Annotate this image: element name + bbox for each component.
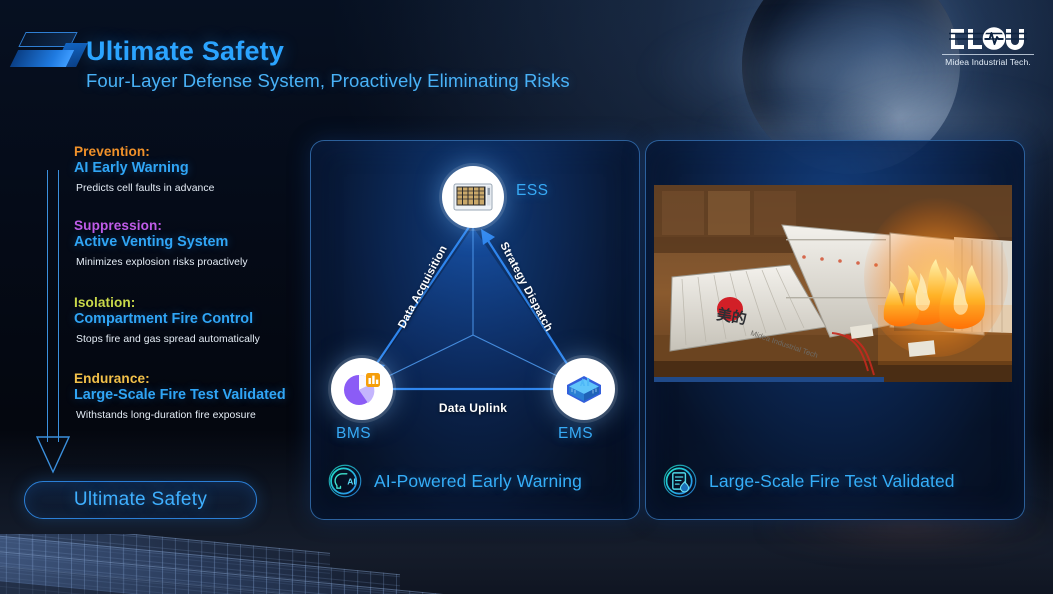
summary-pill-label: Ultimate Safety xyxy=(74,489,207,511)
layer-lead: Large-Scale Fire Test Validated xyxy=(74,387,286,403)
panel-right-caption-row: Large-Scale Fire Test Validated xyxy=(662,463,955,499)
list-item-isolation: Isolation: Compartment Fire Control Stop… xyxy=(74,295,260,345)
layer-kicker: Prevention: xyxy=(74,144,214,159)
layer-kicker: Isolation: xyxy=(74,295,260,310)
layer-desc: Minimizes explosion risks proactively xyxy=(76,257,248,268)
layer-lead: AI Early Warning xyxy=(74,160,214,176)
layer-desc: Withstands long-duration fire exposure xyxy=(76,410,286,421)
photo-caption-banner: Zero thermal runaway propagation between… xyxy=(654,377,884,382)
layer-kicker: Suppression: xyxy=(74,218,248,233)
list-item-endurance: Endurance: Large-Scale Fire Test Validat… xyxy=(74,371,286,421)
panel-mid-caption: AI-Powered Early Warning xyxy=(374,471,582,492)
panel-right-caption: Large-Scale Fire Test Validated xyxy=(709,471,955,492)
node-bms[interactable] xyxy=(331,358,393,420)
layer-kicker: Endurance: xyxy=(74,371,286,386)
panel-fire-test: 美的 Midea Industrial Tech xyxy=(645,140,1025,520)
layer-desc: Stops fire and gas spread automatically xyxy=(76,334,260,345)
fire-test-scene: 美的 Midea Industrial Tech xyxy=(654,185,1012,382)
list-item-suppression: Suppression: Active Venting System Minim… xyxy=(74,218,248,268)
panel-ai-early-warning: ESS BMS xyxy=(310,140,640,520)
node-ess[interactable] xyxy=(442,166,504,228)
summary-pill: Ultimate Safety xyxy=(24,481,257,519)
panel-mid-caption-row: AI AI-Powered Early Warning xyxy=(327,463,582,499)
header-accent-shape xyxy=(8,30,86,76)
slide-stage: Ultimate Safety Four-Layer Defense Syste… xyxy=(0,0,1053,594)
svg-text:AI: AI xyxy=(347,477,356,487)
downward-arrow-icon xyxy=(38,170,68,480)
node-label-ems: EMS xyxy=(558,425,593,443)
solar-farm-graphic xyxy=(0,534,460,594)
pie-chart-icon xyxy=(342,370,382,408)
fire-test-photo: 美的 Midea Industrial Tech xyxy=(654,185,1012,382)
clou-wordmark-icon xyxy=(949,26,1027,52)
layer-lead: Active Venting System xyxy=(74,234,248,250)
logo-tagline: Midea Industrial Tech. xyxy=(942,54,1034,67)
node-label-ess: ESS xyxy=(516,182,549,200)
fire-report-icon xyxy=(662,463,698,499)
layer-desc: Predicts cell faults in advance xyxy=(76,183,214,194)
page-title: Ultimate Safety xyxy=(86,36,284,67)
list-item-prevention: Prevention: AI Early Warning Predicts ce… xyxy=(74,144,214,194)
battery-rack-icon xyxy=(453,182,493,212)
ai-server-icon xyxy=(563,370,605,408)
ai-head-icon: AI xyxy=(327,463,363,499)
company-logo: Midea Industrial Tech. xyxy=(936,26,1040,74)
edge-label-data-uplink: Data Uplink xyxy=(439,401,507,415)
node-label-bms: BMS xyxy=(336,425,371,443)
layer-lead: Compartment Fire Control xyxy=(74,311,260,327)
page-subtitle: Four-Layer Defense System, Proactively E… xyxy=(86,70,570,92)
node-ems[interactable] xyxy=(553,358,615,420)
ess-bms-ems-diagram: ESS BMS xyxy=(311,141,640,451)
